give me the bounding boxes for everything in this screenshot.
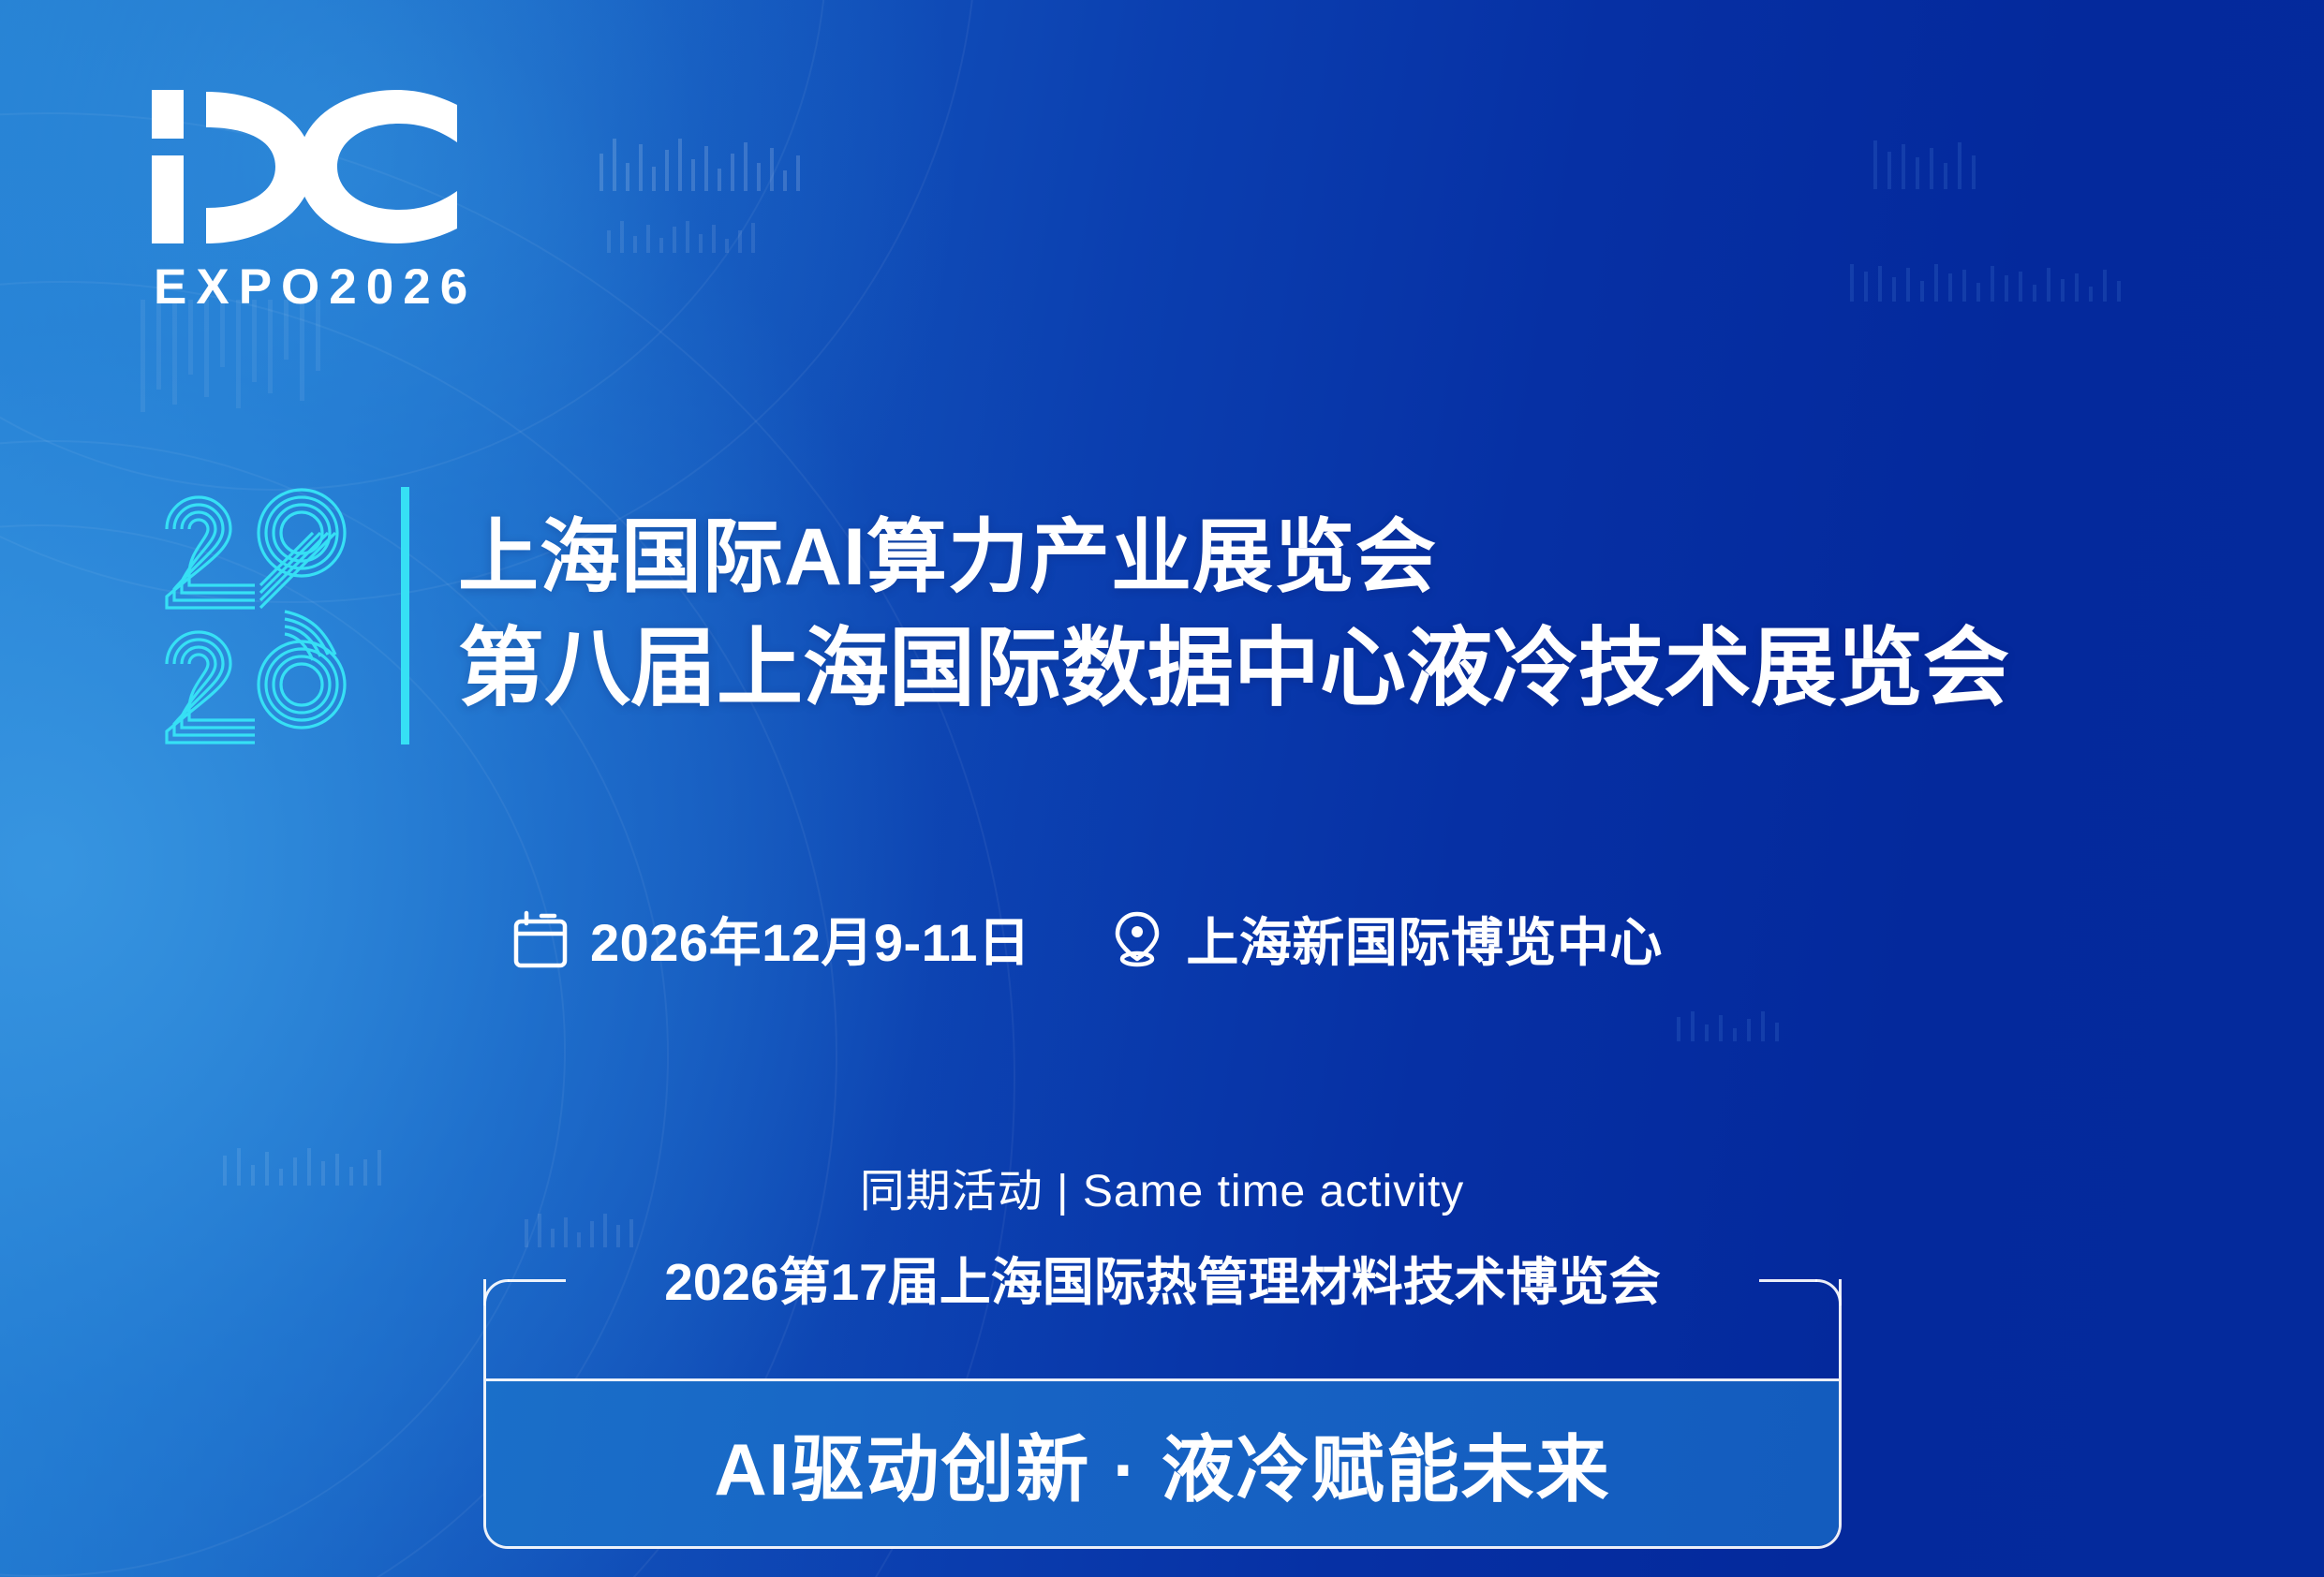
concurrent-event-heading: 2026第17届上海国际热管理材料技术博览会: [483, 1240, 1842, 1315]
background-tick-marks-far-right: [1873, 140, 1976, 189]
slogan-box: AI驱动创新 · 液冷赋能未来: [486, 1381, 1839, 1546]
event-venue-item: 上海新国际博览中心: [1111, 901, 1663, 977]
same-time-activity-label: 同期活动 | Same time activity: [0, 1154, 2324, 1219]
year-2026-outline-mark-icon: [157, 480, 375, 750]
event-meta-row: 2026年12月9-11日 上海新国际博览中心: [513, 901, 1663, 977]
slogan-text: AI驱动创新 · 液冷赋能未来: [714, 1411, 1610, 1516]
event-venue-text: 上海新国际博览中心: [1186, 901, 1663, 977]
background-tick-marks-top-left-lower: [607, 221, 755, 253]
background-tick-marks-right: [1850, 264, 2121, 302]
event-date-text: 2026年12月9-11日: [590, 901, 1030, 977]
title-row: 上海国际AI算力产业展览会 第八届上海国际数据中心液冷技术展览会: [157, 480, 2009, 750]
expo-label: EXPO2026: [154, 262, 477, 312]
poster-canvas: EXPO2026: [0, 0, 2324, 1577]
background-vertical-bars-left: [141, 300, 320, 412]
concurrent-event-panel: 2026第17届上海国际热管理材料技术博览会 AI驱动创新 · 液冷赋能未来: [483, 1279, 1842, 1549]
dc-monogram-logo-icon: [148, 86, 466, 247]
background-tick-marks-top-left: [600, 139, 800, 191]
location-pin-icon: [1111, 910, 1163, 968]
calendar-icon: [513, 910, 568, 968]
event-date-item: 2026年12月9-11日: [513, 901, 1030, 977]
title-accent-divider: [401, 487, 409, 744]
title-line-primary: 上海国际AI算力产业展览会: [458, 510, 2009, 605]
title-lines: 上海国际AI算力产业展览会 第八届上海国际数据中心液冷技术展览会: [458, 510, 2009, 720]
background-tick-marks-right-low: [1677, 1011, 1779, 1041]
title-line-secondary: 第八届上海国际数据中心液冷技术展览会: [458, 618, 2009, 720]
brand-logo-block: EXPO2026: [148, 86, 477, 312]
